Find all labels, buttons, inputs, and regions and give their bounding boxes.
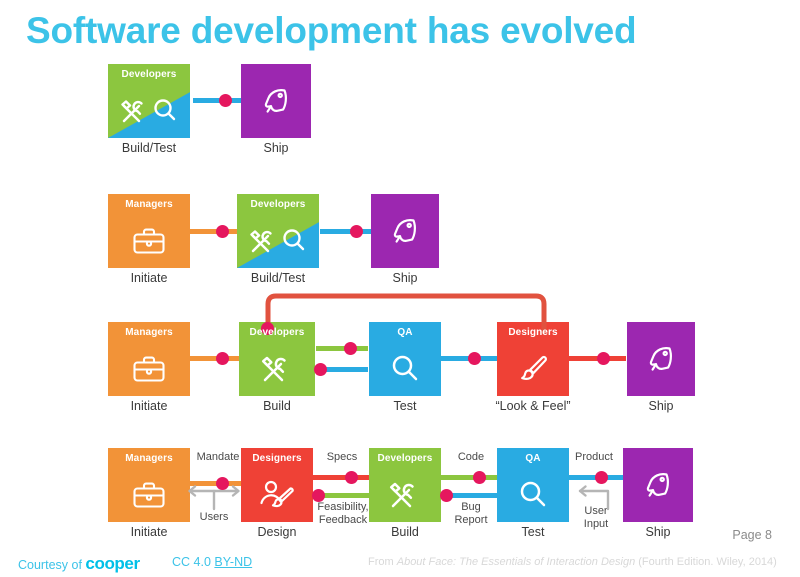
connector-dot-row3-c	[314, 363, 327, 376]
license-credit: CC 4.0 BY-ND	[172, 555, 252, 569]
node-caption-build-row3: Build	[239, 399, 315, 413]
node-caption-test-row4: Test	[497, 525, 569, 539]
connector-dev-qa-row3	[316, 346, 368, 351]
node-role-label: Developers	[108, 69, 190, 80]
edge-label-feasibility-line1: Feasibility,	[317, 501, 368, 513]
edge-label-feasibility-line2: Feedback	[319, 514, 367, 526]
edge-label-code: Code	[437, 451, 505, 464]
edge-label-specs: Specs	[307, 451, 377, 464]
node-caption-build-test-row1: Build/Test	[108, 141, 190, 155]
connector-dot-row2-a	[216, 225, 229, 238]
page-title: Software development has evolved	[26, 10, 636, 52]
node-caption-ship-row3: Ship	[627, 399, 695, 413]
node-role-label: Developers	[369, 453, 441, 464]
node-qa-row4[interactable]: QA	[497, 448, 569, 522]
connector-specs-row4	[313, 475, 371, 480]
node-caption-design-row4: Design	[241, 525, 313, 539]
connector-product-row4	[563, 475, 623, 480]
node-role-label: QA	[369, 327, 441, 338]
persona-brush-icon	[241, 468, 313, 522]
rocket-icon	[627, 322, 695, 396]
courtesy-label: Courtesy of	[18, 558, 82, 572]
node-qa-row3[interactable]: QA	[369, 322, 441, 396]
connector-dot-bugreport	[440, 489, 453, 502]
user-input-arrow-row4	[574, 484, 622, 514]
connector-dot-specs	[345, 471, 358, 484]
users-arrow-row4	[183, 484, 245, 514]
license-prefix: CC 4.0	[172, 555, 214, 569]
connector-dot-row3-d	[468, 352, 481, 365]
node-caption-initiate-row2: Initiate	[108, 271, 190, 285]
node-role-label: Designers	[497, 327, 569, 338]
node-designers-row3[interactable]: Designers	[497, 322, 569, 396]
node-caption-test-row3: Test	[369, 399, 441, 413]
wrench-magnifier-icon	[237, 214, 319, 268]
node-developers-row1[interactable]: Developers	[108, 64, 190, 138]
node-ship-row3[interactable]	[627, 322, 695, 396]
magnifier-icon	[369, 342, 441, 396]
connector-dot-row1-a	[219, 94, 232, 107]
rocket-icon	[241, 64, 311, 138]
connector-dot-row3-e	[597, 352, 610, 365]
node-ship-row4[interactable]	[623, 448, 693, 522]
connector-code-row4	[441, 475, 501, 480]
briefcase-icon	[108, 214, 190, 268]
rocket-icon	[623, 448, 693, 522]
node-developers-row3[interactable]: Developers	[239, 322, 315, 396]
edge-label-product: Product	[559, 451, 629, 464]
briefcase-icon	[108, 468, 190, 522]
wrench-icon	[239, 342, 315, 396]
source-citation: From About Face: The Essentials of Inter…	[368, 556, 777, 568]
license-link[interactable]: BY-ND	[214, 555, 252, 569]
connector-dot-mandate	[216, 477, 229, 490]
edge-label-bug-line2: Report	[454, 514, 487, 526]
edge-label-bug-line1: Bug	[461, 501, 481, 513]
node-role-label: Managers	[108, 199, 190, 210]
citation-prefix: From	[368, 556, 397, 568]
connector-dot-product	[595, 471, 608, 484]
connector-dot-feasibility	[312, 489, 325, 502]
connector-dot-code	[473, 471, 486, 484]
node-role-label: Developers	[237, 199, 319, 210]
node-designers-row4[interactable]: Designers	[241, 448, 313, 522]
node-managers-row3[interactable]: Managers	[108, 322, 190, 396]
cooper-logo: cooper	[85, 554, 139, 573]
node-role-label: Developers	[239, 327, 315, 338]
edge-label-userinput-line2: Input	[584, 518, 608, 530]
node-caption-initiate-row4: Initiate	[108, 525, 190, 539]
page-number: Page 8	[732, 528, 772, 542]
wrench-magnifier-icon	[108, 84, 190, 138]
node-role-label: Managers	[108, 327, 190, 338]
connector-dot-row2-b	[350, 225, 363, 238]
citation-suffix: (Fourth Edition. Wiley, 2014)	[635, 556, 777, 568]
slide-canvas: Software development has evolved Develop…	[0, 0, 800, 577]
node-ship-row2[interactable]	[371, 194, 439, 268]
connector-dot-row3-b	[344, 342, 357, 355]
wrench-icon	[369, 468, 441, 522]
node-caption-build-test-row2: Build/Test	[237, 271, 319, 285]
briefcase-icon	[108, 342, 190, 396]
node-caption-look-feel-row3: “Look & Feel”	[489, 399, 577, 413]
magnifier-icon	[497, 468, 569, 522]
edge-label-bug-report: Bug Report	[437, 501, 505, 526]
rocket-icon	[371, 194, 439, 268]
node-role-label: Designers	[241, 453, 313, 464]
node-developers-row4[interactable]: Developers	[369, 448, 441, 522]
node-role-label: Managers	[108, 453, 190, 464]
connector-dot-row3-a	[216, 352, 229, 365]
node-caption-ship-row2: Ship	[371, 271, 439, 285]
node-ship-row1[interactable]	[241, 64, 311, 138]
node-developers-row2[interactable]: Developers	[237, 194, 319, 268]
node-role-label: QA	[497, 453, 569, 464]
node-caption-initiate-row3: Initiate	[108, 399, 190, 413]
node-caption-ship-row4: Ship	[623, 525, 693, 539]
node-caption-ship-row1: Ship	[241, 141, 311, 155]
courtesy-credit: Courtesy of cooper	[18, 554, 140, 574]
paintbrush-icon	[497, 342, 569, 396]
node-managers-row4[interactable]: Managers	[108, 448, 190, 522]
node-caption-build-row4: Build	[369, 525, 441, 539]
node-managers-row2[interactable]: Managers	[108, 194, 190, 268]
citation-title: About Face: The Essentials of Interactio…	[397, 556, 635, 568]
